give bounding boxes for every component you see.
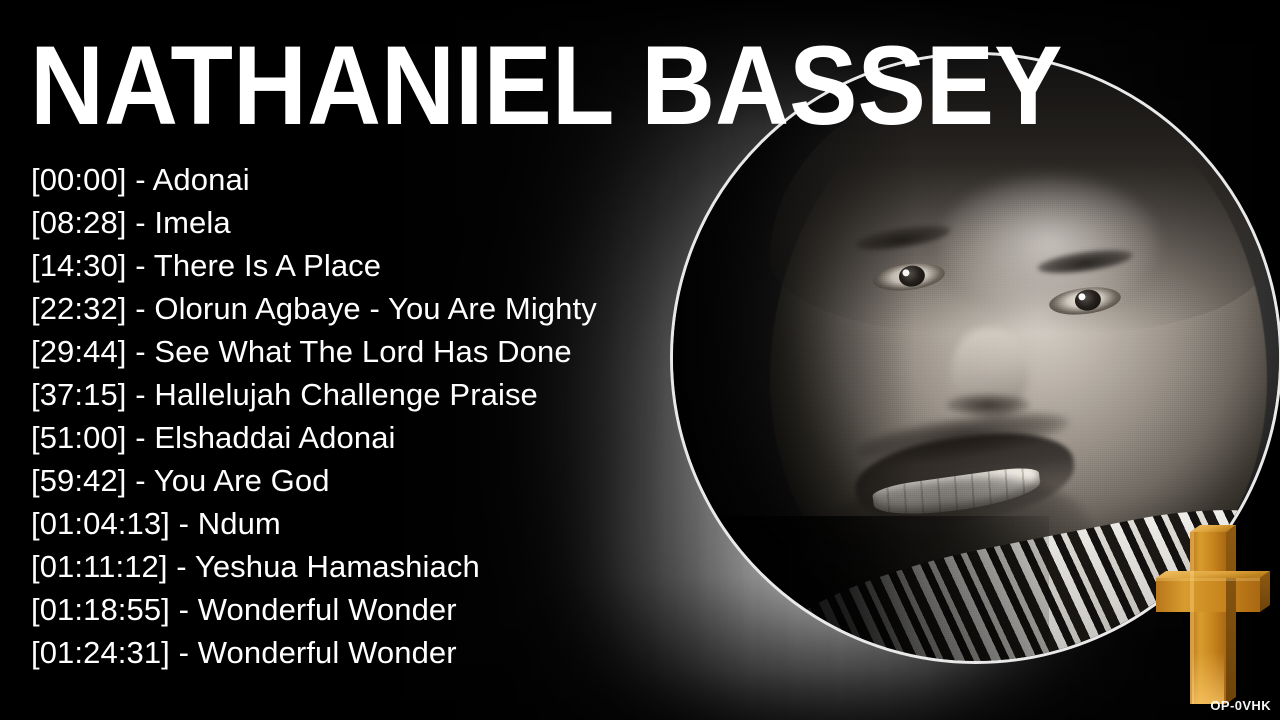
christian-cross-icon [1152,522,1272,710]
watermark: OP-0VHK [1210,698,1271,713]
page-title: NATHANIEL BASSEY [30,30,744,142]
list-item[interactable]: [51:00] - Elshaddai Adonai [31,416,721,459]
list-item[interactable]: [29:44] - See What The Lord Has Done [31,330,721,373]
list-item[interactable]: [22:32] - Olorun Agbaye - You Are Mighty [31,287,721,330]
list-item[interactable]: [00:00] - Adonai [31,158,721,201]
list-item[interactable]: [01:18:55] - Wonderful Wonder [31,588,721,631]
list-item[interactable]: [01:24:31] - Wonderful Wonder [31,631,721,674]
list-item[interactable]: [08:28] - Imela [31,201,721,244]
list-item[interactable]: [01:11:12] - Yeshua Hamashiach [31,545,721,588]
list-item[interactable]: [59:42] - You Are God [31,459,721,502]
list-item[interactable]: [14:30] - There Is A Place [31,244,721,287]
tracklist: [00:00] - Adonai [08:28] - Imela [14:30]… [31,158,721,674]
video-thumbnail: NATHANIEL BASSEY [00:00] - Adonai [08:28… [0,0,1280,720]
list-item[interactable]: [37:15] - Hallelujah Challenge Praise [31,373,721,416]
list-item[interactable]: [01:04:13] - Ndum [31,502,721,545]
